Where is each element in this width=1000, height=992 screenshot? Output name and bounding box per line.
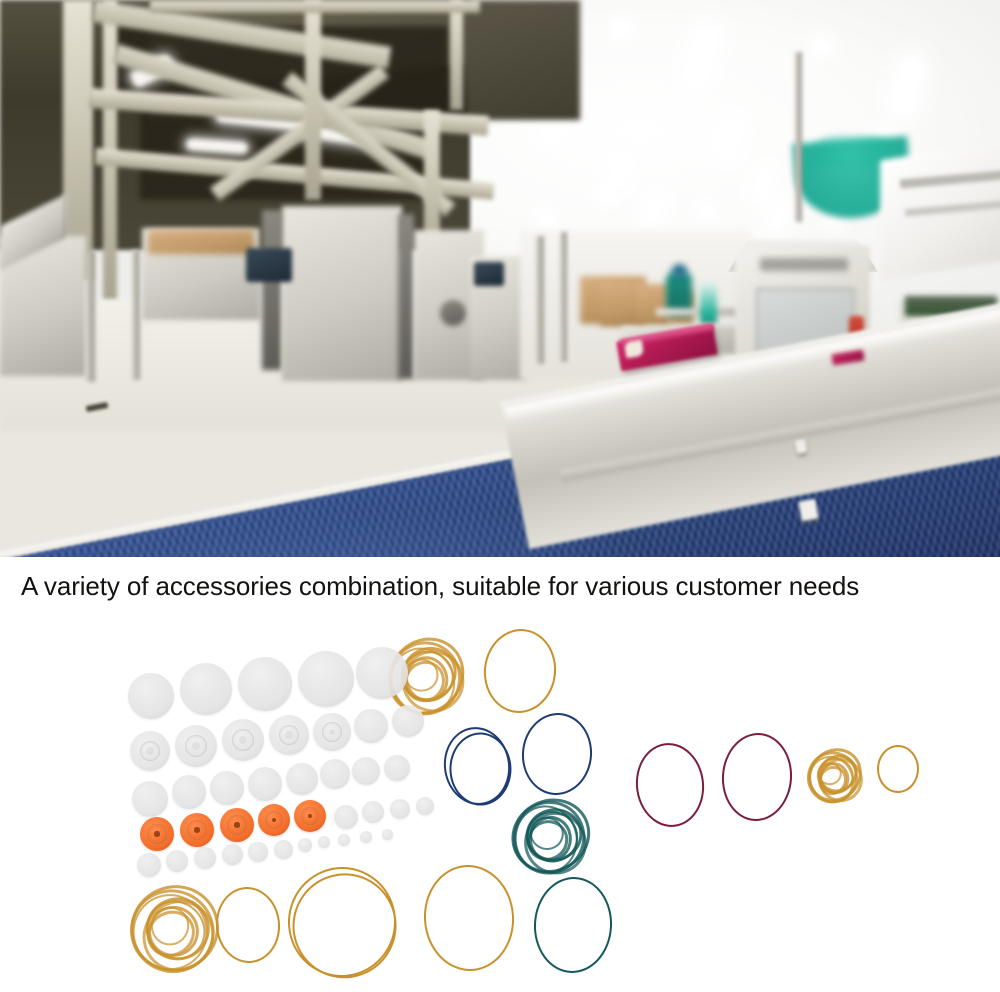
ceiling-downlight <box>600 190 612 202</box>
pulley-white <box>390 799 410 819</box>
rubber-band-tan <box>803 743 867 811</box>
pulley-white <box>334 805 358 829</box>
pulley-white <box>354 709 388 743</box>
pulley-white <box>137 853 161 877</box>
band-loop <box>213 884 283 965</box>
machine-brand-label <box>760 258 848 271</box>
pulley-white <box>130 731 170 771</box>
pulley-bore <box>192 742 200 750</box>
pulley-white <box>222 844 243 865</box>
factory-conveyor-photo <box>0 0 1000 557</box>
rubber-band-tan <box>119 874 229 987</box>
conveyor-mount-clip <box>798 499 818 522</box>
pulley-orange <box>220 808 254 842</box>
rubber-band-tan <box>480 625 560 716</box>
pulley-white <box>194 847 216 869</box>
conveyor-mount-clip <box>795 439 807 454</box>
pulley-white <box>132 781 168 817</box>
machine-frame <box>262 210 282 370</box>
machine-frame <box>398 214 414 379</box>
pulley-white <box>384 755 410 781</box>
teal-bottle <box>700 282 717 324</box>
pulley-bore <box>194 827 199 832</box>
product-listing-image: A variety of accessories combination, su… <box>0 0 1000 992</box>
gantry-platform-edge <box>150 0 480 13</box>
pulley-white <box>238 657 292 711</box>
ceiling-downlight <box>614 22 630 38</box>
pulley-white <box>360 831 372 843</box>
gantry-vertical-column <box>450 0 463 110</box>
pulley-white <box>298 651 354 707</box>
pulley-white <box>298 838 312 852</box>
rubber-band-crimson <box>632 740 708 831</box>
band-loop <box>281 862 407 989</box>
packaging-machine-left <box>282 206 402 381</box>
pulley-orange <box>294 800 326 832</box>
pulley-white <box>286 763 318 795</box>
pulley-bore <box>146 747 153 754</box>
rubber-band-tan <box>282 861 403 983</box>
ceiling-downlight <box>700 206 711 217</box>
band-loop <box>532 875 615 975</box>
pulley-white <box>352 757 380 785</box>
pulley-white <box>362 801 384 823</box>
pulley-white <box>318 836 330 848</box>
pulley-white <box>320 759 350 789</box>
pulley-bore <box>239 736 247 744</box>
pulley-white <box>313 713 351 751</box>
band-loop <box>449 732 512 806</box>
pulley-orange <box>140 817 174 851</box>
vertical-post <box>86 252 95 382</box>
work-table <box>656 308 742 316</box>
door-frame <box>560 232 567 362</box>
pulley-bore <box>285 731 292 738</box>
control-box <box>474 262 504 286</box>
pulley-white <box>248 767 282 801</box>
pulley-white <box>416 797 434 815</box>
pulley-white <box>175 725 217 767</box>
hmi-screen <box>246 248 292 282</box>
band-loop <box>420 862 517 974</box>
rubber-band-teal <box>532 875 615 975</box>
pulley-white <box>180 663 232 715</box>
ceiling-downlight <box>816 40 830 54</box>
cardboard-stack <box>148 230 254 254</box>
pulley-white <box>172 775 206 809</box>
caption-bar: A variety of accessories combination, su… <box>0 557 1000 615</box>
pulley-orange <box>180 813 214 847</box>
rubber-band-teal <box>506 790 595 886</box>
door-frame <box>536 236 544 364</box>
rubber-band-tan <box>213 884 283 965</box>
vertical-post <box>132 250 140 380</box>
band-loop <box>632 740 708 831</box>
accessories-product-layout <box>0 615 1000 992</box>
pulley-white <box>274 840 293 859</box>
pulley-white <box>248 842 268 862</box>
worker-head <box>672 264 687 278</box>
pulley-white <box>356 647 408 699</box>
pulley-white <box>392 705 424 737</box>
pulley-white <box>166 850 188 872</box>
rubber-band-tan <box>877 745 919 793</box>
gantry-vertical-column <box>305 0 321 200</box>
caption-text: A variety of accessories combination, su… <box>21 571 859 602</box>
rubber-band-tan <box>420 862 517 974</box>
machine-roller <box>440 300 466 326</box>
band-loop <box>480 625 560 716</box>
pulley-white <box>382 829 393 840</box>
pulley-white <box>128 673 174 719</box>
band-loop <box>117 872 232 986</box>
pulley-white <box>269 715 309 755</box>
cardboard-cartons <box>636 284 670 326</box>
ceiling-support-post <box>795 52 802 222</box>
pulley-white <box>222 719 264 761</box>
pulley-bore <box>154 831 159 836</box>
pulley-bore <box>234 822 239 827</box>
rubber-band-crimson <box>719 731 795 824</box>
pulley-orange <box>258 804 290 836</box>
band-loop <box>719 731 795 824</box>
rubber-band-navy <box>519 710 596 798</box>
pulley-white <box>338 834 350 846</box>
rubber-band-navy <box>439 723 515 809</box>
band-loop <box>797 737 872 812</box>
ceiling-downlight <box>540 212 551 223</box>
band-loop <box>519 710 596 798</box>
pulley-white <box>210 771 244 805</box>
band-loop <box>499 786 603 887</box>
band-loop <box>877 745 919 793</box>
